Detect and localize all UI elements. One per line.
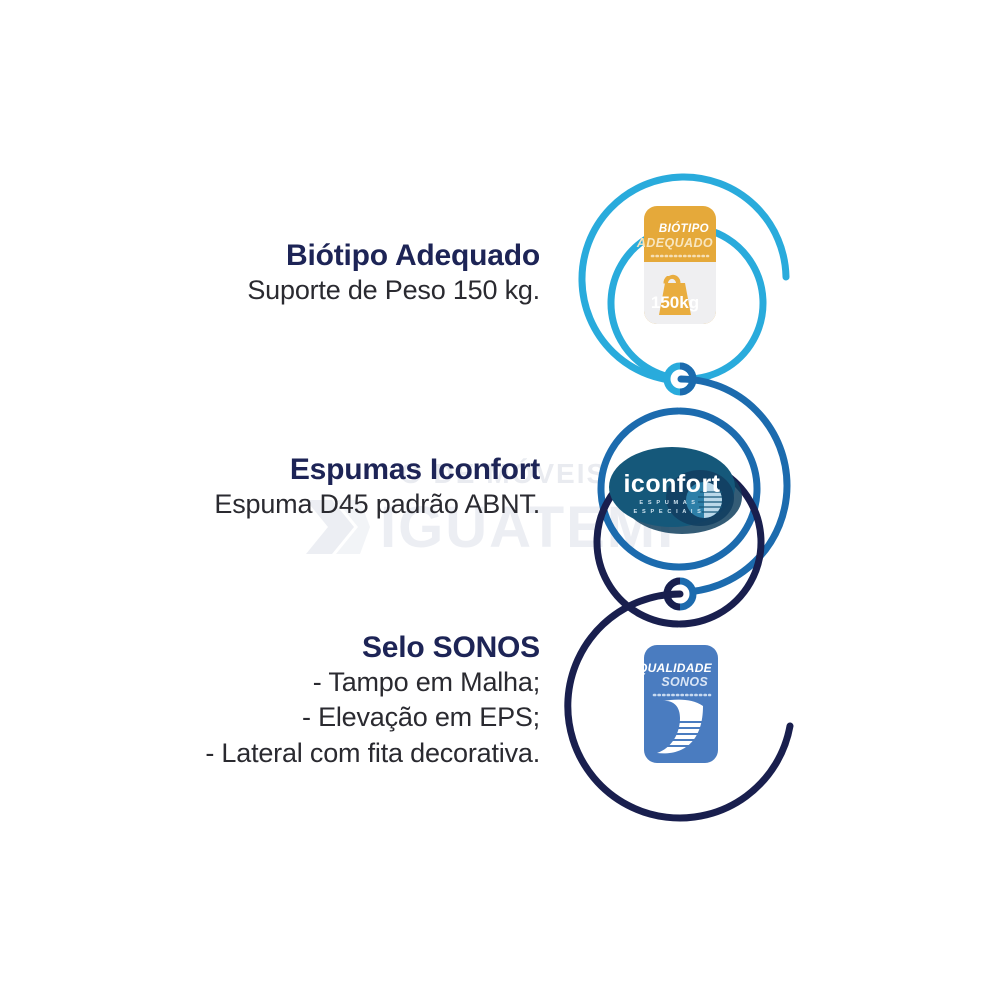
iconfort-wordmark: iconfort [623, 470, 720, 498]
biotipo-badge-title-1: BIÓTIPO [659, 222, 709, 235]
section-espumas-line-0: Espuma D45 padrão ABNT. [140, 487, 540, 522]
section-espumas-text: Espumas Iconfort Espuma D45 padrão ABNT. [140, 452, 540, 522]
iconfort-logo: iconfort E S P U M A S E S P E C I A I S [609, 447, 742, 534]
section-selo-title: Selo SONOS [120, 630, 540, 665]
iconfort-tagline-1: E S P U M A S [639, 500, 696, 506]
sonos-badge: QUALIDADE SONOS [638, 645, 718, 763]
infographic-canvas: O DE MÓVEIS IGUATEMI [0, 0, 1000, 1000]
section-selo-line-0: - Tampo em Malha; [120, 665, 540, 700]
sonos-badge-title-2: SONOS [661, 675, 708, 689]
section-biotipo-title: Biótipo Adequado [140, 238, 540, 273]
iconfort-tagline-2: E S P E C I A I S [634, 509, 703, 515]
section-selo-line-1: - Elevação em EPS; [120, 700, 540, 735]
biotipo-badge-value: 150kg [651, 293, 699, 312]
section-espumas-title: Espumas Iconfort [140, 452, 540, 487]
section-selo-text: Selo SONOS - Tampo em Malha; - Elevação … [120, 630, 540, 771]
biotipo-badge: BIÓTIPO ADEQUADO 150kg [636, 206, 716, 324]
biotipo-badge-title-2: ADEQUADO [636, 236, 713, 250]
section-biotipo-text: Biótipo Adequado Suporte de Peso 150 kg. [140, 238, 540, 308]
section-selo-line-2: - Lateral com fita decorativa. [120, 736, 540, 771]
section-biotipo-line-0: Suporte de Peso 150 kg. [140, 273, 540, 308]
sonos-badge-title-1: QUALIDADE [638, 661, 713, 675]
